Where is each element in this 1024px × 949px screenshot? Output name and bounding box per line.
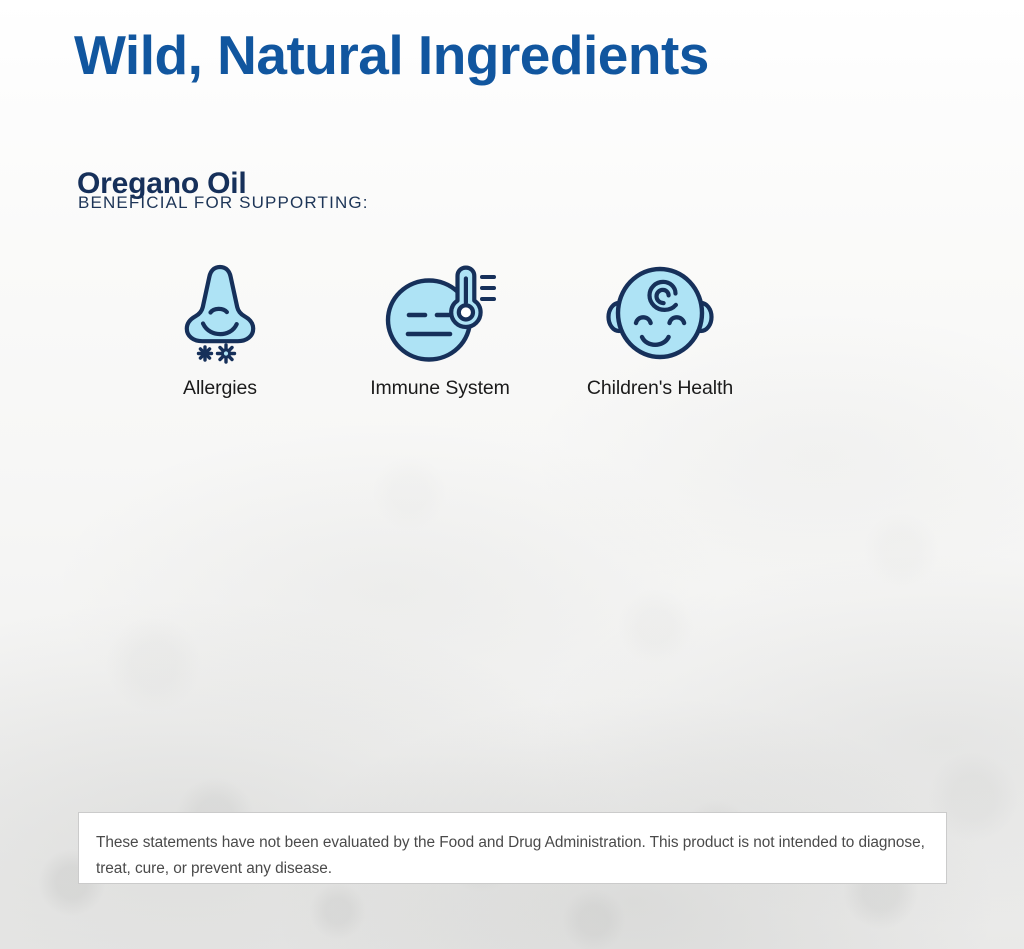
sick-face-thermometer-icon bbox=[381, 255, 499, 365]
ingredient-subtitle: BENEFICIAL FOR SUPPORTING: bbox=[78, 193, 369, 213]
baby-face-icon bbox=[605, 255, 715, 365]
benefit-item-allergies: Allergies bbox=[110, 255, 330, 400]
benefit-label: Allergies bbox=[183, 377, 257, 400]
benefit-item-immune-system: Immune System bbox=[330, 255, 550, 400]
disclaimer-text: These statements have not been evaluated… bbox=[96, 830, 929, 882]
benefit-label: Children's Health bbox=[587, 377, 733, 400]
benefit-item-childrens-health: Children's Health bbox=[550, 255, 770, 400]
benefit-label: Immune System bbox=[370, 377, 510, 400]
benefits-list: Allergies bbox=[110, 255, 770, 400]
nose-pollen-icon bbox=[172, 255, 268, 365]
page-title: Wild, Natural Ingredients bbox=[74, 27, 709, 85]
ingredients-page: Wild, Natural Ingredients Oregano Oil BE… bbox=[0, 0, 1024, 949]
disclaimer-box: These statements have not been evaluated… bbox=[78, 812, 947, 884]
